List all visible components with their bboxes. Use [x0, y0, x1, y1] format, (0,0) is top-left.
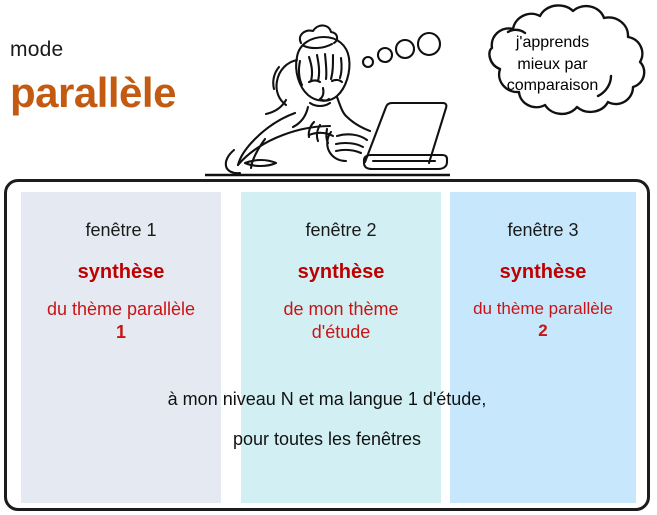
window-column-3[interactable]: fenêtre 3 synthèse du thème parallèle 2 — [450, 192, 636, 503]
window-3-title: fenêtre 3 — [450, 220, 636, 241]
window-2-description-emphasis: d'étude — [241, 321, 441, 344]
window-1-description-emphasis: 1 — [21, 321, 221, 344]
window-2-synthesis-label: synthèse — [241, 261, 441, 284]
thought-bubble-line-2: mieux par — [470, 54, 635, 76]
window-1-description-text: du thème parallèle — [47, 299, 195, 319]
header: mode parallèle — [0, 0, 657, 178]
window-3-description-text: du thème parallèle — [473, 299, 613, 318]
window-2-title: fenêtre 2 — [241, 220, 441, 241]
mode-label: mode — [10, 38, 63, 62]
window-3-description-emphasis: 2 — [450, 320, 636, 342]
window-1-synthesis-label: synthèse — [21, 261, 221, 284]
window-3-description: du thème parallèle 2 — [450, 298, 636, 342]
thought-bubble-line-1: j'apprends — [470, 32, 635, 54]
window-1-title: fenêtre 1 — [21, 220, 221, 241]
window-3-synthesis-label: synthèse — [450, 261, 636, 284]
page-title: parallèle — [10, 72, 176, 114]
window-1-description: du thème parallèle 1 — [21, 298, 221, 345]
thought-bubble-text: j'apprends mieux par comparaison — [470, 32, 635, 97]
window-2-description: de mon thème d'étude — [241, 298, 441, 345]
window-column-1[interactable]: fenêtre 1 synthèse du thème parallèle 1 — [21, 192, 221, 503]
person-at-laptop-thinking-icon — [205, 5, 450, 177]
window-column-2[interactable]: fenêtre 2 synthèse de mon thème d'étude — [241, 192, 441, 503]
window-2-description-text: de mon thème — [283, 299, 398, 319]
thought-bubble-line-3: comparaison — [470, 75, 635, 97]
